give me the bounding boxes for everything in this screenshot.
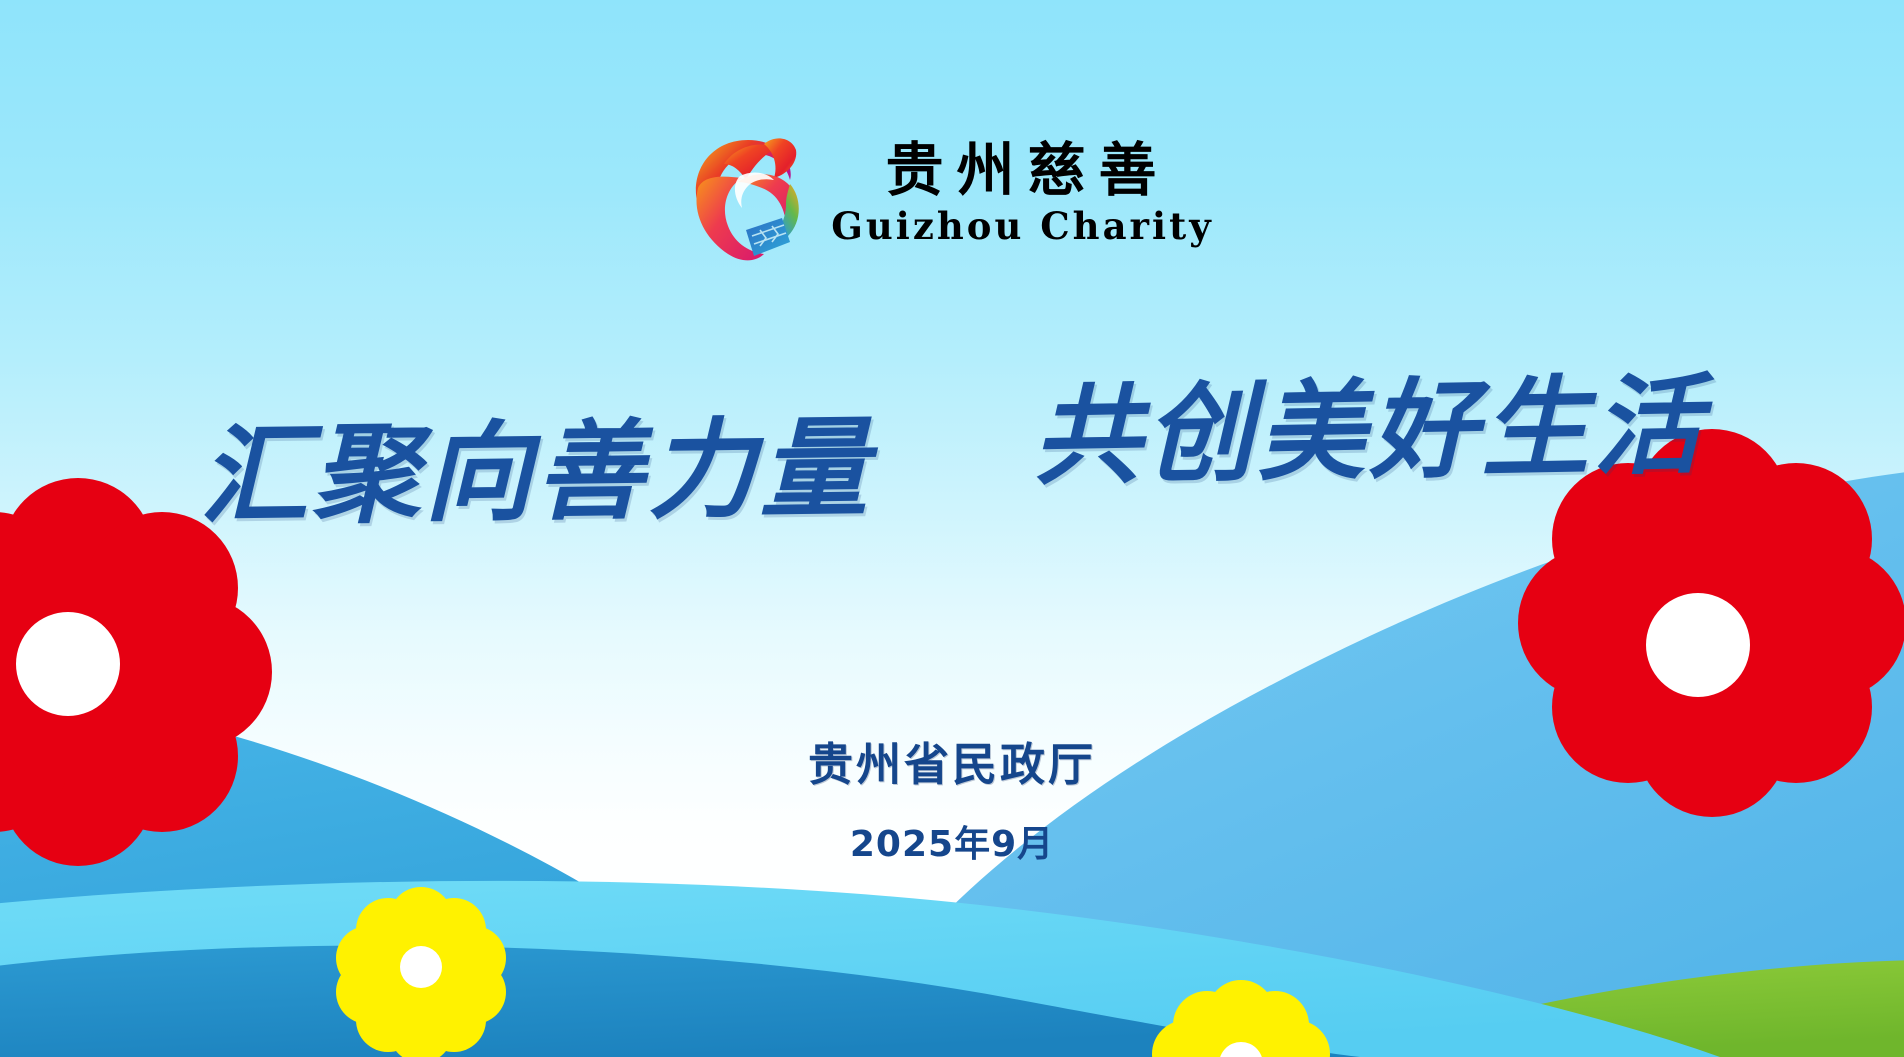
logo-block: 贵州慈善 Guizhou Charity <box>0 126 1904 262</box>
publication-date: 2025年9月 <box>0 815 1904 867</box>
page-title-line-1: 汇聚向善力量 <box>199 382 873 546</box>
logo-wordmark: 贵州慈善 Guizhou Charity <box>828 140 1213 249</box>
yellow-flower-bottom-left <box>336 887 506 1057</box>
flower-center <box>400 946 442 988</box>
flower-center <box>1646 593 1750 697</box>
guizhou-charity-flame-logo-icon <box>690 126 806 262</box>
logo-title-cn: 贵州慈善 <box>872 140 1169 201</box>
logo-title-en: Guizhou Charity <box>828 204 1213 248</box>
flower-center <box>16 612 120 716</box>
presentation-title-slide: 贵州慈善 Guizhou Charity 汇聚向善力量 共创美好生活 贵州省民政… <box>0 0 1904 1057</box>
title-spacer <box>914 483 992 485</box>
page-title-line-2: 共创美好生活 <box>1031 339 1706 507</box>
publisher-organization: 贵州省民政厅 <box>0 728 1904 793</box>
